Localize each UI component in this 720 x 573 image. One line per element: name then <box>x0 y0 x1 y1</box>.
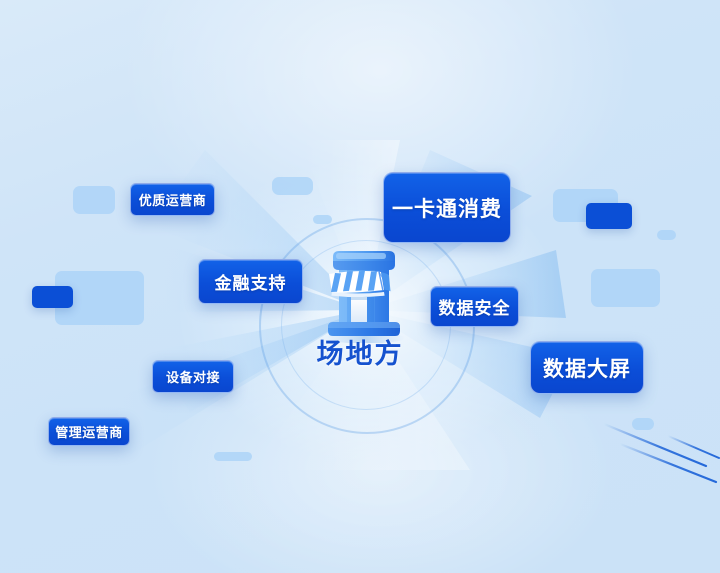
node-chip-manage[interactable]: 管理运营商 <box>48 417 130 446</box>
node-chip-onecard-label: 一卡通消费 <box>392 193 502 223</box>
decor-rect-light-9 <box>632 418 654 430</box>
decor-rect-light-5 <box>214 452 252 461</box>
node-chip-bigscreen-label: 数据大屏 <box>543 353 631 383</box>
node-chip-device[interactable]: 设备对接 <box>152 360 234 393</box>
decor-rect-light-3 <box>272 177 313 195</box>
node-chip-device-label: 设备对接 <box>166 367 220 386</box>
decor-rect-light-1 <box>73 186 115 214</box>
decor-rect-light-7 <box>657 230 676 240</box>
decor-rect-solid-1 <box>32 286 73 308</box>
node-chip-quality-label: 优质运营商 <box>139 190 207 209</box>
decor-rect-light-4 <box>313 215 332 224</box>
shop-storefront-icon <box>311 243 417 343</box>
node-chip-security-label: 数据安全 <box>439 294 511 319</box>
infographic-canvas: 场地方 一卡通消费 金融支持 优质运营商 设备对接 管理运营商 数据安全 数据大… <box>0 0 720 573</box>
node-chip-onecard[interactable]: 一卡通消费 <box>383 172 511 243</box>
node-chip-finance[interactable]: 金融支持 <box>198 259 303 304</box>
decor-rect-solid-2 <box>586 203 632 229</box>
node-chip-finance-label: 金融支持 <box>215 269 287 294</box>
decor-rect-light-8 <box>591 269 660 307</box>
node-chip-security[interactable]: 数据安全 <box>430 286 519 327</box>
node-chip-bigscreen[interactable]: 数据大屏 <box>530 341 644 394</box>
node-chip-manage-label: 管理运营商 <box>55 422 123 441</box>
node-chip-quality[interactable]: 优质运营商 <box>130 183 215 216</box>
